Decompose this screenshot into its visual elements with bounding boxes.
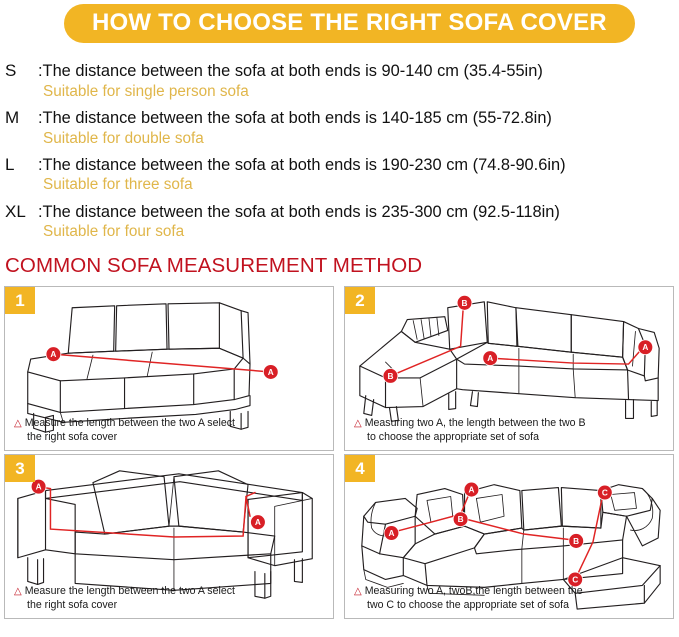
panel-caption-line2: to choose the appropriate set of sofa [354,431,586,445]
size-main-line: L :The distance between the sofa at both… [5,154,679,176]
panel-number-badge: 3 [5,455,35,482]
marker-b-bottom-label: B [387,371,393,381]
marker-c-bottom-label: C [572,575,578,585]
triangle-icon: △ [14,586,22,597]
marker-a-top-label: A [468,485,474,495]
size-letter: XL [5,201,38,222]
panel-caption-line2: the right sofa cover [14,431,235,445]
marker-a-right-label: A [642,343,648,353]
measurement-panel-3: 3 [4,454,334,619]
marker-a-left-label: A [388,528,394,538]
page-title-banner: HOW TO CHOOSE THE RIGHT SOFA COVER [64,4,635,43]
measurement-panel-1: 1 [4,286,334,451]
triangle-icon: △ [354,586,362,597]
size-suitable-note: Suitable for double sofa [5,129,679,148]
size-suitable-note: Suitable for three sofa [5,175,679,194]
marker-c-top-label: C [602,488,608,498]
size-row-l: L :The distance between the sofa at both… [5,154,679,195]
size-letter: S [5,60,38,81]
panel-caption-line1: Measuring two A, the length between the … [365,417,586,429]
measurement-panels-grid: 1 [0,286,679,619]
size-description: :The distance between the sofa at both e… [38,108,552,129]
panel-number-badge: 1 [5,287,35,314]
panel-number-badge: 2 [345,287,375,314]
panel-caption: △Measuring two A, twoB,the length betwee… [354,585,583,612]
marker-b-right-label: B [573,536,579,546]
marker-b-top-label: B [462,298,468,308]
size-description: :The distance between the sofa at both e… [38,61,543,82]
panel-caption-line1: Measuring two A, twoB,the length between… [365,585,583,597]
panel-caption-line2: the right sofa cover [14,599,235,613]
size-row-xl: XL :The distance between the sofa at bot… [5,201,679,242]
size-guide-list: S :The distance between the sofa at both… [0,60,679,241]
panel-caption: △Measure the length between the two A se… [14,417,235,444]
size-main-line: XL :The distance between the sofa at bot… [5,201,679,223]
triangle-icon: △ [14,418,22,429]
size-main-line: M :The distance between the sofa at both… [5,107,679,129]
panel-caption-line1: Measure the length between the two A sel… [25,417,235,429]
header-banner-container: HOW TO CHOOSE THE RIGHT SOFA COVER [0,0,679,43]
section-title: COMMON SOFA MEASUREMENT METHOD [0,254,679,278]
size-description: :The distance between the sofa at both e… [38,202,560,223]
size-main-line: S :The distance between the sofa at both… [5,60,679,82]
marker-a-left-label: A [36,482,42,492]
marker-a-left-label: A [487,353,493,363]
marker-a-right-label: A [255,517,261,527]
panel-caption-line1: Measure the length between the two A sel… [25,585,235,597]
size-letter: L [5,154,38,175]
triangle-icon: △ [354,418,362,429]
marker-a-right-label: A [268,367,274,377]
marker-b-left-label: B [458,514,464,524]
measurement-panel-4: 4 [344,454,674,619]
size-row-m: M :The distance between the sofa at both… [5,107,679,148]
size-suitable-note: Suitable for single person sofa [5,82,679,101]
marker-a-left-label: A [50,349,56,359]
measurement-panel-2: 2 [344,286,674,451]
size-letter: M [5,107,38,128]
size-description: :The distance between the sofa at both e… [38,155,566,176]
panel-caption-line2: two C to choose the appropriate set of s… [354,599,583,613]
size-row-s: S :The distance between the sofa at both… [5,60,679,101]
panel-caption: △Measure the length between the two A se… [14,585,235,612]
size-suitable-note: Suitable for four sofa [5,222,679,241]
panel-caption: △Measuring two A, the length between the… [354,417,586,444]
panel-number-badge: 4 [345,455,375,482]
